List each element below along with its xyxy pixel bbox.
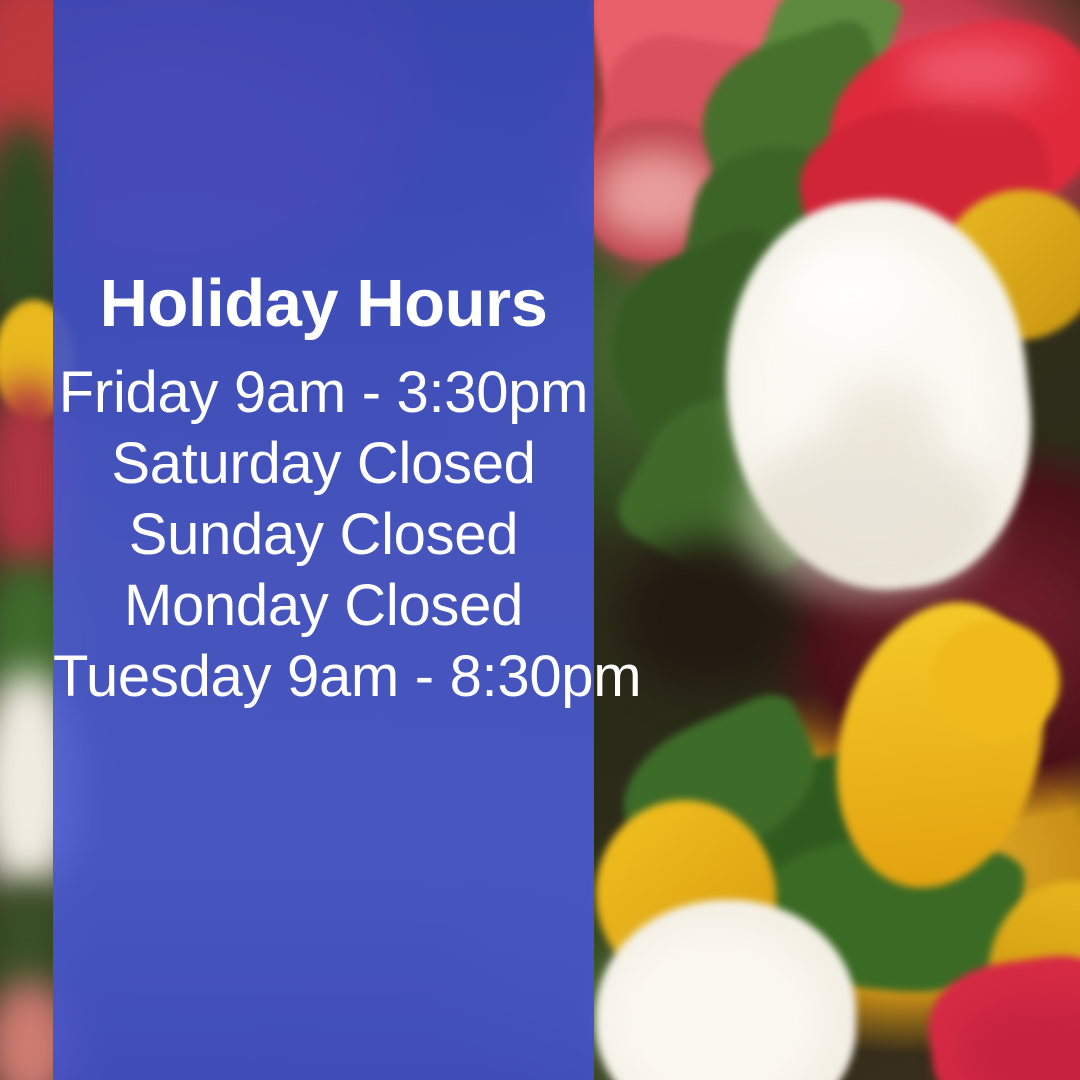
hours-line-monday: Monday Closed: [53, 570, 594, 641]
hours-line-tuesday: Tuesday 9am - 8:30pm: [53, 641, 594, 712]
holiday-hours-graphic: Holiday Hours Friday 9am - 3:30pm Saturd…: [0, 0, 1080, 1080]
hours-line-friday: Friday 9am - 3:30pm: [53, 357, 594, 428]
page-title: Holiday Hours: [53, 268, 594, 339]
goat-cheese-highlight-1: [790, 250, 910, 340]
hours-line-sunday: Sunday Closed: [53, 499, 594, 570]
goat-cheese-highlight-2: [830, 380, 940, 460]
strawberry-highlight: [900, 40, 1050, 100]
hours-list: Friday 9am - 3:30pm Saturday Closed Sund…: [53, 357, 594, 712]
hours-text-block: Holiday Hours Friday 9am - 3:30pm Saturd…: [53, 268, 594, 712]
hours-line-saturday: Saturday Closed: [53, 428, 594, 499]
blue-overlay-panel: Holiday Hours Friday 9am - 3:30pm Saturd…: [53, 0, 594, 1080]
